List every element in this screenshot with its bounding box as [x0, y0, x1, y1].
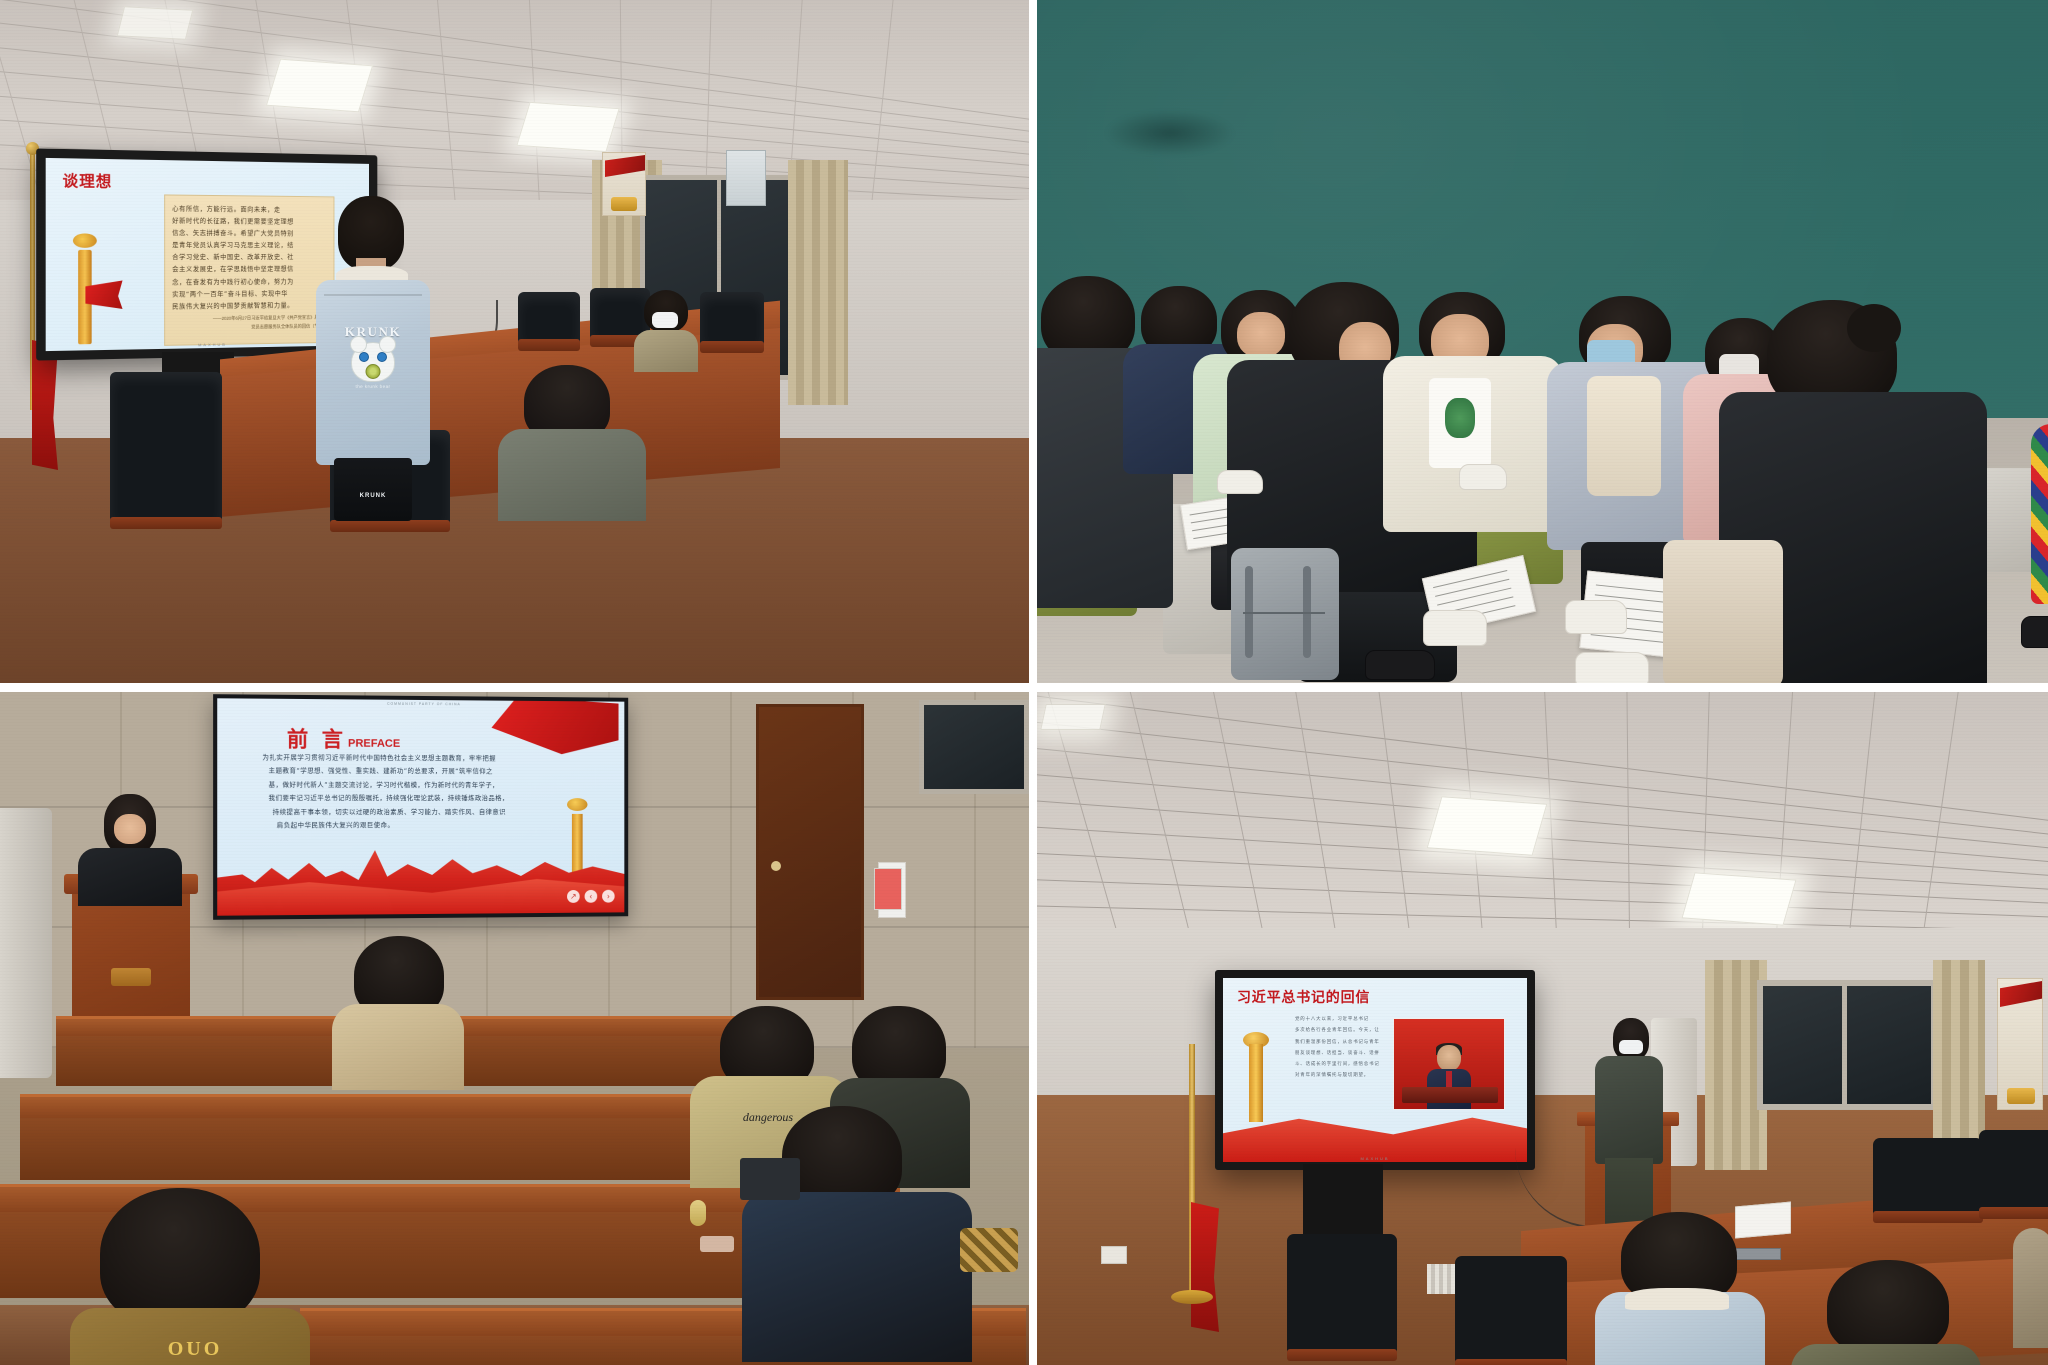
- slide-red-flag-graphic: [491, 697, 618, 757]
- quote-line-6: 会主义发展史，在学思践悟中坚定理想信: [172, 264, 327, 276]
- ceiling-light-3: [1040, 704, 1106, 730]
- preface-line-5: 持续提高干事本领，切实以过硬的政治素质、学习能力、踏实作风、自律意识: [262, 806, 591, 820]
- quote-source-2: 党员志愿服务队全体队员的回信（节选）: [172, 323, 327, 331]
- seated-student-foreground: [498, 365, 646, 520]
- wall-whiteboard: [726, 150, 766, 206]
- preface-line-1: 为扎实开展学习贯彻习近平新时代中国特色社会主义思想主题教育，牢牢把握: [262, 751, 591, 766]
- viewer-partial-body: [2013, 1228, 2048, 1348]
- quote-source-1: ——2020年6月27日习近平给复旦大学《共产党宣言》展示馆: [172, 314, 327, 322]
- leader-photo: [1393, 1018, 1505, 1110]
- photo-collage: 谈理想 心有所信，方能行远。面向未来，走 好新时代的长征路，我们更需要坚定理想 …: [0, 0, 2048, 1365]
- panel-top-right-group-discussion: [1035, 0, 2048, 688]
- wall-notice-red: [874, 868, 902, 910]
- panel-bottom-right-meeting-room: 习近平总书记的回信 党的十八大以来，习近平总书记 多次给各行各业青年回信。今天，…: [1035, 688, 2048, 1365]
- ceiling-light-1: [266, 59, 373, 113]
- chair-arm: [1455, 1359, 1567, 1365]
- poster-flag: [605, 155, 645, 177]
- shoe-dark-1: [1365, 650, 1435, 680]
- leader-head: [1437, 1045, 1461, 1071]
- slide-title-cn: 前 言: [287, 727, 347, 752]
- hoodie-inner: [1587, 376, 1661, 496]
- wall-poster-party: [602, 152, 646, 216]
- chair-left-front: [1287, 1234, 1397, 1354]
- flag-pole: [1189, 1044, 1195, 1292]
- slide-gold-pillar-graphic: [1233, 1030, 1281, 1140]
- face-mask-icon: [1619, 1040, 1643, 1054]
- denim-jacket: KRUNK the krunk bear: [316, 280, 430, 465]
- slide-title: 谈理想: [62, 170, 112, 192]
- display-brand-logo: MAXHUB: [198, 342, 227, 348]
- student-tan-hoodie: [332, 1004, 464, 1090]
- pillar-shaft: [572, 814, 583, 879]
- wall-scuff-mark: [1105, 110, 1235, 156]
- seated-student-masked: [632, 290, 700, 362]
- slide-letter-text: 党的十八大以来，习近平总书记 多次给各行各业青年回信。今天，让 我们重温那份回信…: [1295, 1014, 1403, 1126]
- chair-right-1: [1873, 1138, 1983, 1216]
- window-far-right: [919, 700, 1029, 794]
- chair-center-front: [1455, 1256, 1567, 1364]
- audience-student-center: [332, 936, 464, 1084]
- preface-line-3: 基，做好时代新人”主题交流讨论，学习时代楷模，作为新时代的青年学子，: [262, 778, 591, 792]
- poster-emblem: [611, 197, 637, 211]
- viewer-fleece-collar: [1625, 1288, 1729, 1310]
- slide-title-en: PREFACE: [348, 738, 400, 750]
- jacket-brand-text: KRUNK: [316, 324, 430, 340]
- door-knob[interactable]: [771, 861, 781, 871]
- viewer-denim-jacket: [1595, 1212, 1765, 1364]
- chair-right-2: [1979, 1130, 2048, 1212]
- pillar-cap: [567, 798, 587, 811]
- pillar-cap: [73, 233, 97, 247]
- next-icon[interactable]: ›: [602, 890, 615, 903]
- preface-line-2: 主题教育“学思想、强党性、重实践、建新功”的总要求，开展“筑牢信仰之: [262, 765, 591, 779]
- letter-line-6: 对青年的深情嘱托与殷切期望。: [1295, 1070, 1403, 1081]
- ceiling-light-2: [1681, 872, 1796, 925]
- hair-bun: [1847, 304, 1901, 352]
- flag-pole-left: [30, 150, 35, 410]
- quote-line-7: 念，在奋发有为中践行初心使命，努力为: [172, 276, 327, 289]
- viewer-green-hoodie: [1791, 1260, 1981, 1365]
- slide-quote-card: 心有所信，方能行远。面向未来，走 好新时代的长征路，我们更需要坚定理想 信念、矢…: [164, 194, 334, 345]
- bear-gasmask-icon: [366, 364, 381, 379]
- interactive-display[interactable]: 习近平总书记的回信 党的十八大以来，习近平总书记 多次给各行各业青年回信。今天，…: [1215, 970, 1535, 1170]
- audience-student-blue-jacket: [742, 1106, 972, 1356]
- jacket-hem-text: KRUNK: [334, 493, 412, 499]
- chair-arm: [1287, 1349, 1397, 1361]
- shoe-white-4: [1217, 470, 1263, 494]
- backpack-zipper: [1243, 612, 1325, 614]
- student-head: [100, 1188, 260, 1326]
- chair-arm: [518, 339, 580, 351]
- viewer-far-right-partial: [2013, 1228, 2048, 1348]
- ceiling-light-2: [516, 102, 619, 152]
- person-beige-pants: [1663, 540, 1783, 688]
- shoe-white-5: [1575, 652, 1649, 686]
- slide-gold-pillar-graphic: [65, 231, 107, 344]
- quote-line-4: 是青年党员认真学习马克思主义理论，结: [172, 240, 327, 252]
- share-icon[interactable]: ↗: [567, 890, 580, 903]
- tablet-device[interactable]: [740, 1158, 800, 1200]
- student-pants: KRUNK: [334, 458, 412, 521]
- speaker-at-podium: [78, 794, 182, 904]
- quote-line-5: 合学习党史、新中国史、改革开放史、社: [172, 252, 327, 264]
- prev-icon[interactable]: ‹: [585, 890, 598, 903]
- backpack[interactable]: [1231, 548, 1339, 680]
- seated-hoodie: [498, 429, 646, 521]
- flag-pole-base: [1171, 1290, 1213, 1304]
- standing-student: KRUNK the krunk bear KRUNK: [312, 196, 434, 521]
- shoe-white-3: [1565, 600, 1627, 634]
- student-blue-black-jacket: [742, 1192, 972, 1362]
- letter-line-4: 朋友谈理想、话担当、谈奋斗、话拼: [1295, 1048, 1403, 1059]
- banana-snack: [690, 1200, 706, 1226]
- slide-screen: 习近平总书记的回信 党的十八大以来，习近平总书记 多次给各行各业青年回信。今天，…: [1223, 978, 1527, 1162]
- shoe-far-right: [2021, 616, 2048, 648]
- door[interactable]: [756, 704, 864, 1000]
- person-white-jacket: [1383, 292, 1563, 592]
- slide-title-preface: 前 言PREFACE: [287, 723, 400, 754]
- chair-arm: [110, 517, 222, 529]
- preface-line-4: 我们要牢记习近平总书记的殷殷嘱托，持续强化理论武装，持续锤炼政治品格，: [262, 792, 591, 806]
- tshirt-green-print: [1445, 398, 1475, 438]
- podium-emblem: [111, 968, 151, 986]
- quote-line-2: 好新时代的长征路，我们更需要坚定理想: [172, 216, 327, 229]
- colorful-pattern-coat: [2031, 424, 2048, 604]
- chair-arm: [1873, 1211, 1983, 1223]
- slide-body-text: 为扎实开展学习贯彻习近平新时代中国特色社会主义思想主题教育，牢牢把握 主题教育“…: [262, 751, 591, 832]
- speaker-black-coat: [78, 848, 182, 906]
- wall-socket: [1101, 1246, 1127, 1264]
- face-mask-icon: [652, 312, 678, 328]
- ceiling-light-1: [1427, 796, 1548, 856]
- pillar-shaft: [1249, 1044, 1263, 1122]
- speaker-face: [114, 814, 146, 844]
- ceiling-light-3: [117, 6, 194, 40]
- snack-wrapper: [700, 1236, 734, 1252]
- vest-logo-text: OUO: [140, 1338, 250, 1361]
- preface-line-6: 肩负起中华民族伟大复兴的艰巨使命。: [262, 819, 591, 833]
- curtain-right: [788, 160, 848, 405]
- beige-pants: [1663, 540, 1783, 688]
- jacket-subtext: the krunk bear: [316, 384, 430, 389]
- quote-line-1: 心有所信，方能行远。面向未来，走: [172, 204, 327, 217]
- slide-title: 习近平总书记的回信: [1237, 987, 1370, 1007]
- window: [1757, 980, 1937, 1110]
- quote-line-9: 民族伟大复兴的中国梦贡献智慧和力量。: [172, 300, 327, 314]
- letter-line-2: 多次给各行各业青年回信。今天，让: [1295, 1025, 1403, 1036]
- chair-arm: [330, 520, 450, 532]
- viewer-green-body: [1791, 1344, 1981, 1365]
- slide-gold-pillar-graphic: [560, 798, 593, 879]
- poster-flag: [2000, 981, 2042, 1007]
- poster-emblem: [2007, 1088, 2035, 1104]
- wall-poster-party: [1997, 978, 2043, 1110]
- panel-top-left-meeting-room: 谈理想 心有所信，方能行远。面向未来，走 好新时代的长征路，我们更需要坚定理想 …: [0, 0, 1035, 688]
- projection-screen[interactable]: COMMUNIST PARTY OF CHINA 前 言PREFACE 为扎实开…: [213, 694, 628, 920]
- slide-nav-controls[interactable]: ↗ ‹ ›: [567, 890, 615, 903]
- quote-line-3: 信念、矢志拼搏奋斗。希望广大党员特别: [172, 228, 327, 241]
- display-brand-logo: MAXHUB: [1360, 1156, 1389, 1161]
- audience-student-foreground-left: OUO: [70, 1188, 310, 1365]
- panel-bottom-left-lecture-hall: COMMUNIST PARTY OF CHINA 前 言PREFACE 为扎实开…: [0, 688, 1035, 1365]
- chair-far-3: [700, 292, 764, 346]
- shoe-white-2: [1459, 464, 1507, 490]
- presenter-hoodie: [1595, 1056, 1663, 1164]
- chair-arm: [700, 341, 764, 353]
- viewer-head: [1827, 1260, 1949, 1356]
- letter-line-1: 党的十八大以来，习近平总书记: [1295, 1014, 1403, 1025]
- letter-line-5: 斗、话成长的字里行间，感悟总书记: [1295, 1059, 1403, 1070]
- chair-far-1: [518, 292, 580, 344]
- bear-eyes-icon: [359, 352, 387, 362]
- chair-near-left: [110, 372, 222, 522]
- leopard-print-bag: [960, 1228, 1018, 1272]
- letter-line-3: 我们重温那份回信，从总书记与青年: [1295, 1037, 1403, 1048]
- seated-coat: [634, 330, 698, 372]
- air-conditioner-unit: [0, 808, 52, 1078]
- shoe-white-1: [1423, 610, 1487, 646]
- leader-podium: [1402, 1087, 1498, 1103]
- chair-arm: [1979, 1207, 2048, 1219]
- gutter-horizontal: [0, 683, 2048, 692]
